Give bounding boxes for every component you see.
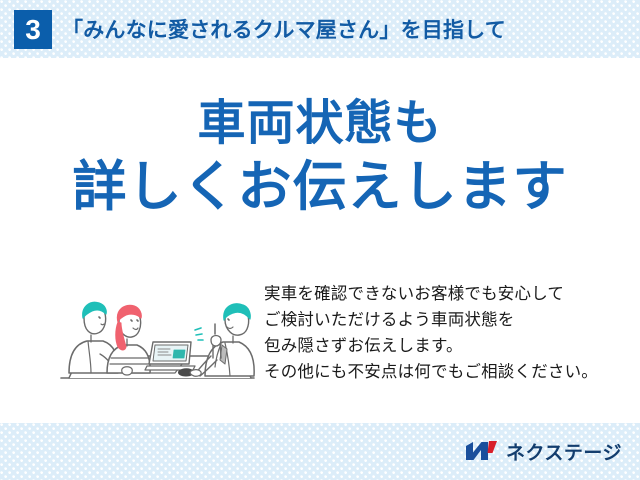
body-copy-line-1: 実車を確認できないお客様でも安心して — [264, 281, 624, 307]
body-copy-line-3: 包み隠さずお伝えします。 — [264, 333, 624, 359]
header-title: 「みんなに愛されるクルマ屋さん」を目指して — [62, 14, 506, 44]
slide-root: 3 「みんなに愛されるクルマ屋さん」を目指して 車両状態も 詳しくお伝えします — [0, 0, 640, 480]
main-heading-line-1: 車両状態も — [0, 96, 640, 152]
header-inner: 3 「みんなに愛されるクルマ屋さん」を目指して — [0, 0, 640, 58]
main-heading-line-2: 詳しくお伝えします — [0, 156, 640, 219]
nextage-logo: ネクステージ — [465, 437, 622, 465]
consultation-illustration — [55, 272, 260, 392]
nextage-logo-text: ネクステージ — [506, 438, 622, 465]
body-copy-line-4: その他にも不安点は何でもご相談ください。 — [264, 359, 624, 385]
step-number-badge: 3 — [14, 10, 52, 49]
main-heading: 車両状態も 詳しくお伝えします — [0, 96, 640, 218]
footer-band: ネクステージ — [0, 423, 640, 480]
nextage-logo-mark-icon — [465, 439, 499, 463]
body-copy: 実車を確認できないお客様でも安心して ご検討いただけるよう車両状態を 包み隠さず… — [264, 281, 624, 385]
header-band: 3 「みんなに愛されるクルマ屋さん」を目指して — [0, 0, 640, 58]
body-copy-line-2: ご検討いただけるよう車両状態を — [264, 307, 624, 333]
consultation-illustration-svg — [55, 272, 260, 392]
